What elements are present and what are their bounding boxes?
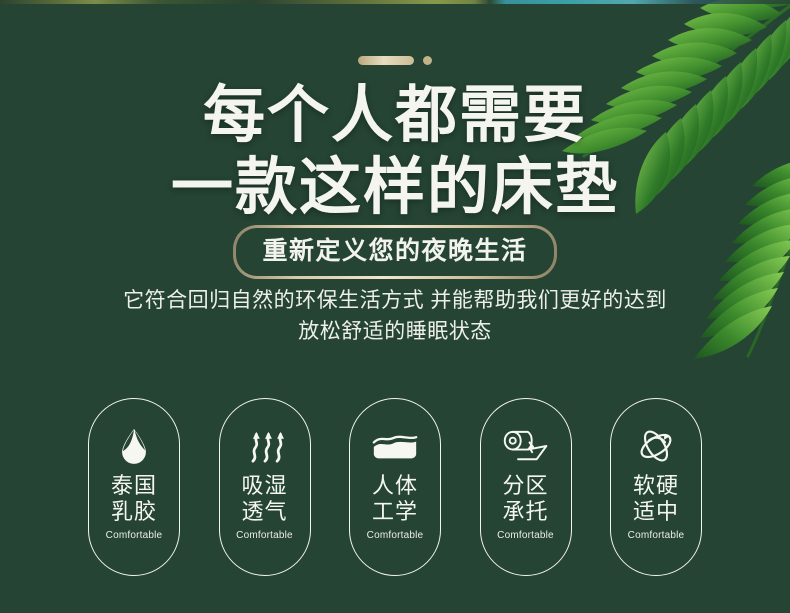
ergonomic-mattress-icon [365, 425, 425, 467]
feature-label-line-1: 人体 [372, 473, 418, 499]
feature-label-line-2: 透气 [241, 499, 287, 525]
feature-label-line-2: 承托 [502, 499, 548, 525]
top-ornament [0, 56, 790, 65]
gold-dash-icon [358, 56, 414, 65]
feature-badge-thai-latex[interactable]: 泰国 乳胶 Comfortable [88, 398, 180, 576]
feature-badge-subtext: Comfortable [236, 529, 293, 542]
feature-badge-label: 泰国 乳胶 [111, 473, 157, 525]
latex-droplet-icon [104, 425, 164, 467]
headline-line-1: 每个人都需要 [0, 80, 790, 152]
feature-label-line-2: 工学 [372, 499, 418, 525]
tagline-pill: 重新定义您的夜晚生活 [233, 225, 556, 279]
feature-badge-breathable[interactable]: 吸湿 透气 Comfortable [219, 398, 311, 576]
subtitle-copy: 它符合回归自然的环保生活方式 并能帮助我们更好的达到 放松舒适的睡眠状态 [0, 285, 790, 347]
feature-label-line-2: 适中 [633, 499, 679, 525]
subtitle-line-2: 放松舒适的睡眠状态 [0, 316, 790, 347]
promo-banner: 每个人都需要 一款这样的床垫 重新定义您的夜晚生活 它符合回归自然的环保生活方式… [0, 0, 790, 613]
top-image-seam-strip [0, 0, 790, 4]
feature-label-line-1: 吸湿 [241, 473, 287, 499]
feature-badge-subtext: Comfortable [367, 529, 424, 542]
feature-badge-label: 分区 承托 [502, 473, 548, 525]
gold-dot-icon [423, 56, 432, 65]
feature-label-line-1: 分区 [502, 473, 548, 499]
zone-support-roll-icon [496, 425, 556, 467]
moisture-breathable-icon [235, 425, 295, 467]
feature-badge-list: 泰国 乳胶 Comfortable [88, 398, 702, 578]
feature-badge-subtext: Comfortable [628, 529, 685, 542]
feature-label-line-2: 乳胶 [111, 499, 157, 525]
feature-badge-label: 人体 工学 [372, 473, 418, 525]
subtitle-line-1: 它符合回归自然的环保生活方式 并能帮助我们更好的达到 [0, 285, 790, 316]
feature-label-line-1: 泰国 [111, 473, 157, 499]
feature-badge-ergonomic[interactable]: 人体 工学 Comfortable [349, 398, 441, 576]
headline-line-2: 一款这样的床垫 [0, 152, 790, 224]
firmness-atom-icon [626, 425, 686, 467]
feature-badge-subtext: Comfortable [497, 529, 554, 542]
feature-badge-subtext: Comfortable [106, 529, 163, 542]
feature-badge-zone-support[interactable]: 分区 承托 Comfortable [480, 398, 572, 576]
tagline-pill-wrapper: 重新定义您的夜晚生活 [0, 225, 790, 279]
feature-badge-label: 吸湿 透气 [241, 473, 287, 525]
page-title: 每个人都需要 一款这样的床垫 [0, 80, 790, 224]
feature-badge-firmness[interactable]: 软硬 适中 Comfortable [610, 398, 702, 576]
feature-label-line-1: 软硬 [633, 473, 679, 499]
feature-badge-label: 软硬 适中 [633, 473, 679, 525]
